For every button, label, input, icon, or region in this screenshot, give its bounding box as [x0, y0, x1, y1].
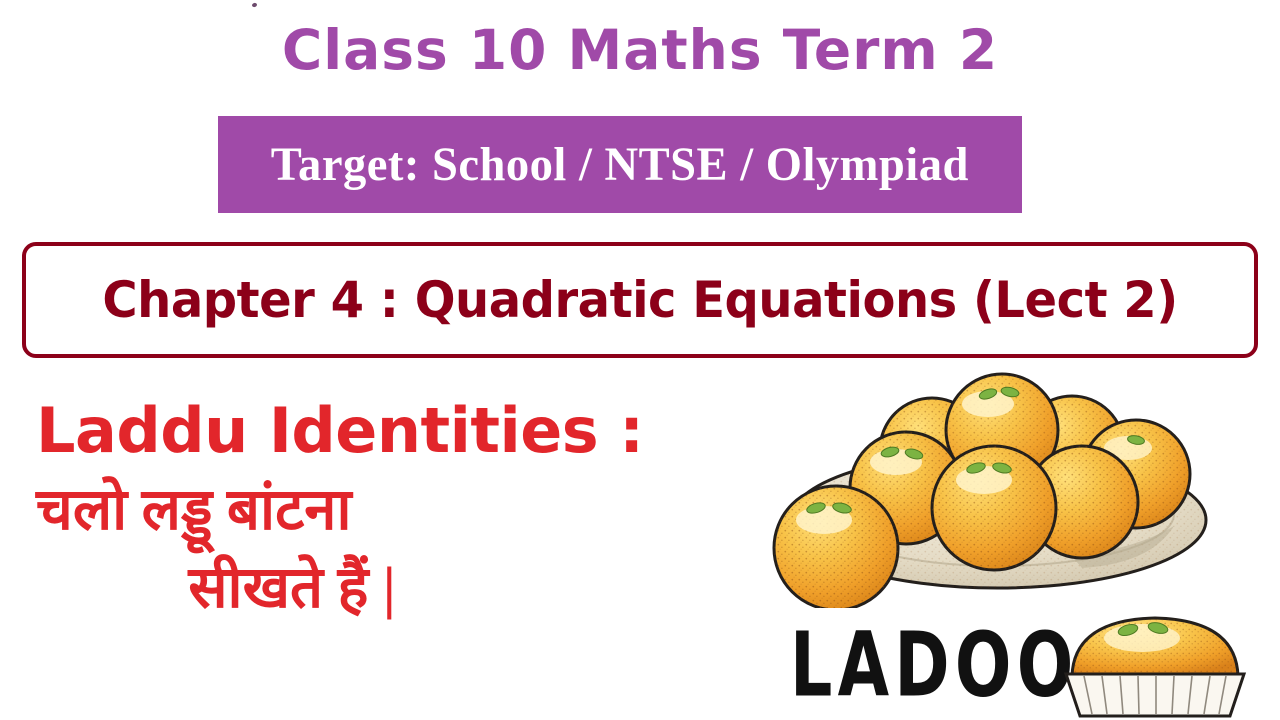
cupcake-laddu-dome [1072, 618, 1238, 676]
paper-cup-wrapper [1066, 674, 1244, 716]
target-banner-label: Target: School / NTSE / Olympiad [271, 137, 969, 192]
laddu-loose-front [774, 486, 898, 608]
topic-headline-hindi-line-2: सीखते हैं | [36, 554, 716, 622]
ladoo-wordmark: LADOO [790, 620, 1079, 709]
laddu-plate-illustration [770, 368, 1230, 608]
target-banner: Target: School / NTSE / Olympiad [218, 116, 1022, 213]
stray-speck-artifact [251, 2, 257, 7]
topic-headline-block: Laddu Identities : चलो लड्डू बांटना सीखत… [36, 400, 716, 623]
chapter-title-label: Chapter 4 : Quadratic Equations (Lect 2) [102, 271, 1177, 329]
lecture-slide: Class 10 Maths Term 2 Target: School / N… [0, 0, 1280, 720]
page-title: Class 10 Maths Term 2 [0, 22, 1280, 80]
chapter-title-box: Chapter 4 : Quadratic Equations (Lect 2) [22, 242, 1258, 358]
topic-headline-english: Laddu Identities : [36, 400, 716, 462]
laddu-cupcake-illustration [1050, 604, 1260, 720]
laddu-front-centre [932, 446, 1056, 570]
topic-headline-hindi-line-1: चलो लड्डू बांटना [36, 476, 716, 544]
